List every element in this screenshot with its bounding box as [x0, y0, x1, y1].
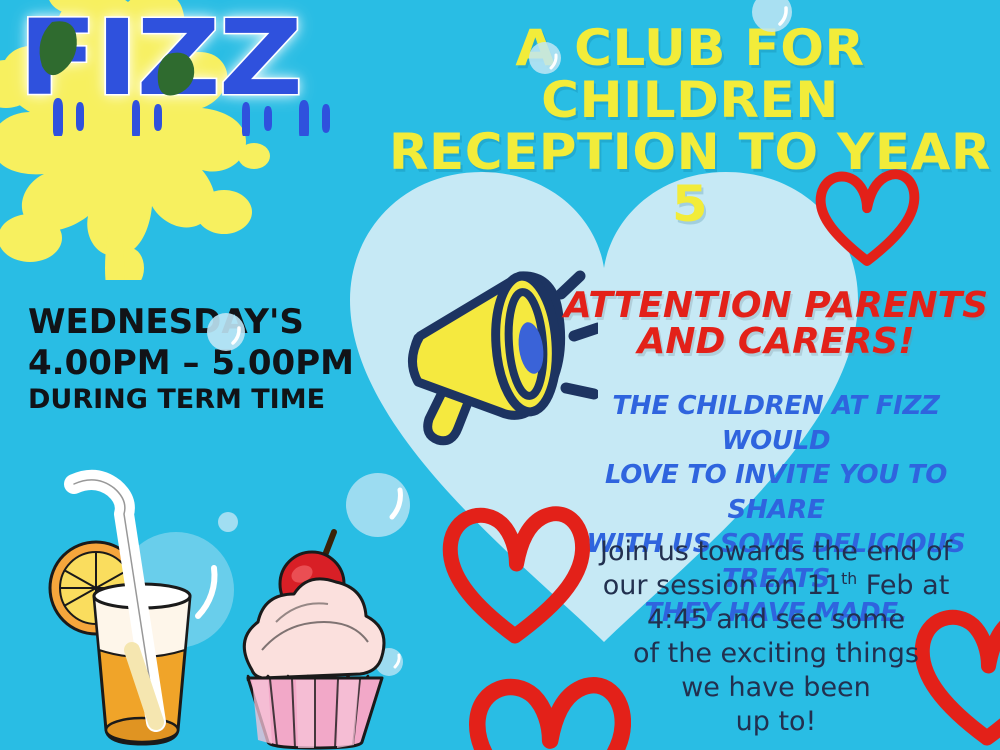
details-line-2-b: Feb at: [857, 570, 949, 601]
invite-line-2: LOVE TO INVITE YOU TO SHARE: [556, 458, 996, 527]
orange-drink-icon: [28, 468, 238, 750]
details-line-4: of the exciting things: [576, 637, 976, 671]
cupcake-icon: [222, 518, 407, 750]
attention-line-1: ATTENTION PARENTS: [560, 288, 992, 324]
poster-canvas: FIZZ A CLUB FOR CHILDREN RECEPTION TO YE…: [0, 0, 1000, 750]
details-line-5: we have been: [576, 671, 976, 705]
details-line-2: our session on 11th Feb at: [576, 569, 976, 603]
attention-heading: ATTENTION PARENTS AND CARERS!: [560, 288, 992, 360]
details-line-3: 4:45 and see some: [576, 603, 976, 637]
details-line-1: Join us towards the end of: [576, 535, 976, 569]
details-line-2-a: our session on 11: [603, 570, 841, 601]
details-body: Join us towards the end of our session o…: [576, 535, 976, 739]
ordinal-suffix: th: [841, 569, 857, 588]
attention-line-2: AND CARERS!: [560, 324, 992, 360]
invite-line-1: THE CHILDREN AT FIZZ WOULD: [556, 389, 996, 458]
details-line-6: up to!: [576, 705, 976, 739]
